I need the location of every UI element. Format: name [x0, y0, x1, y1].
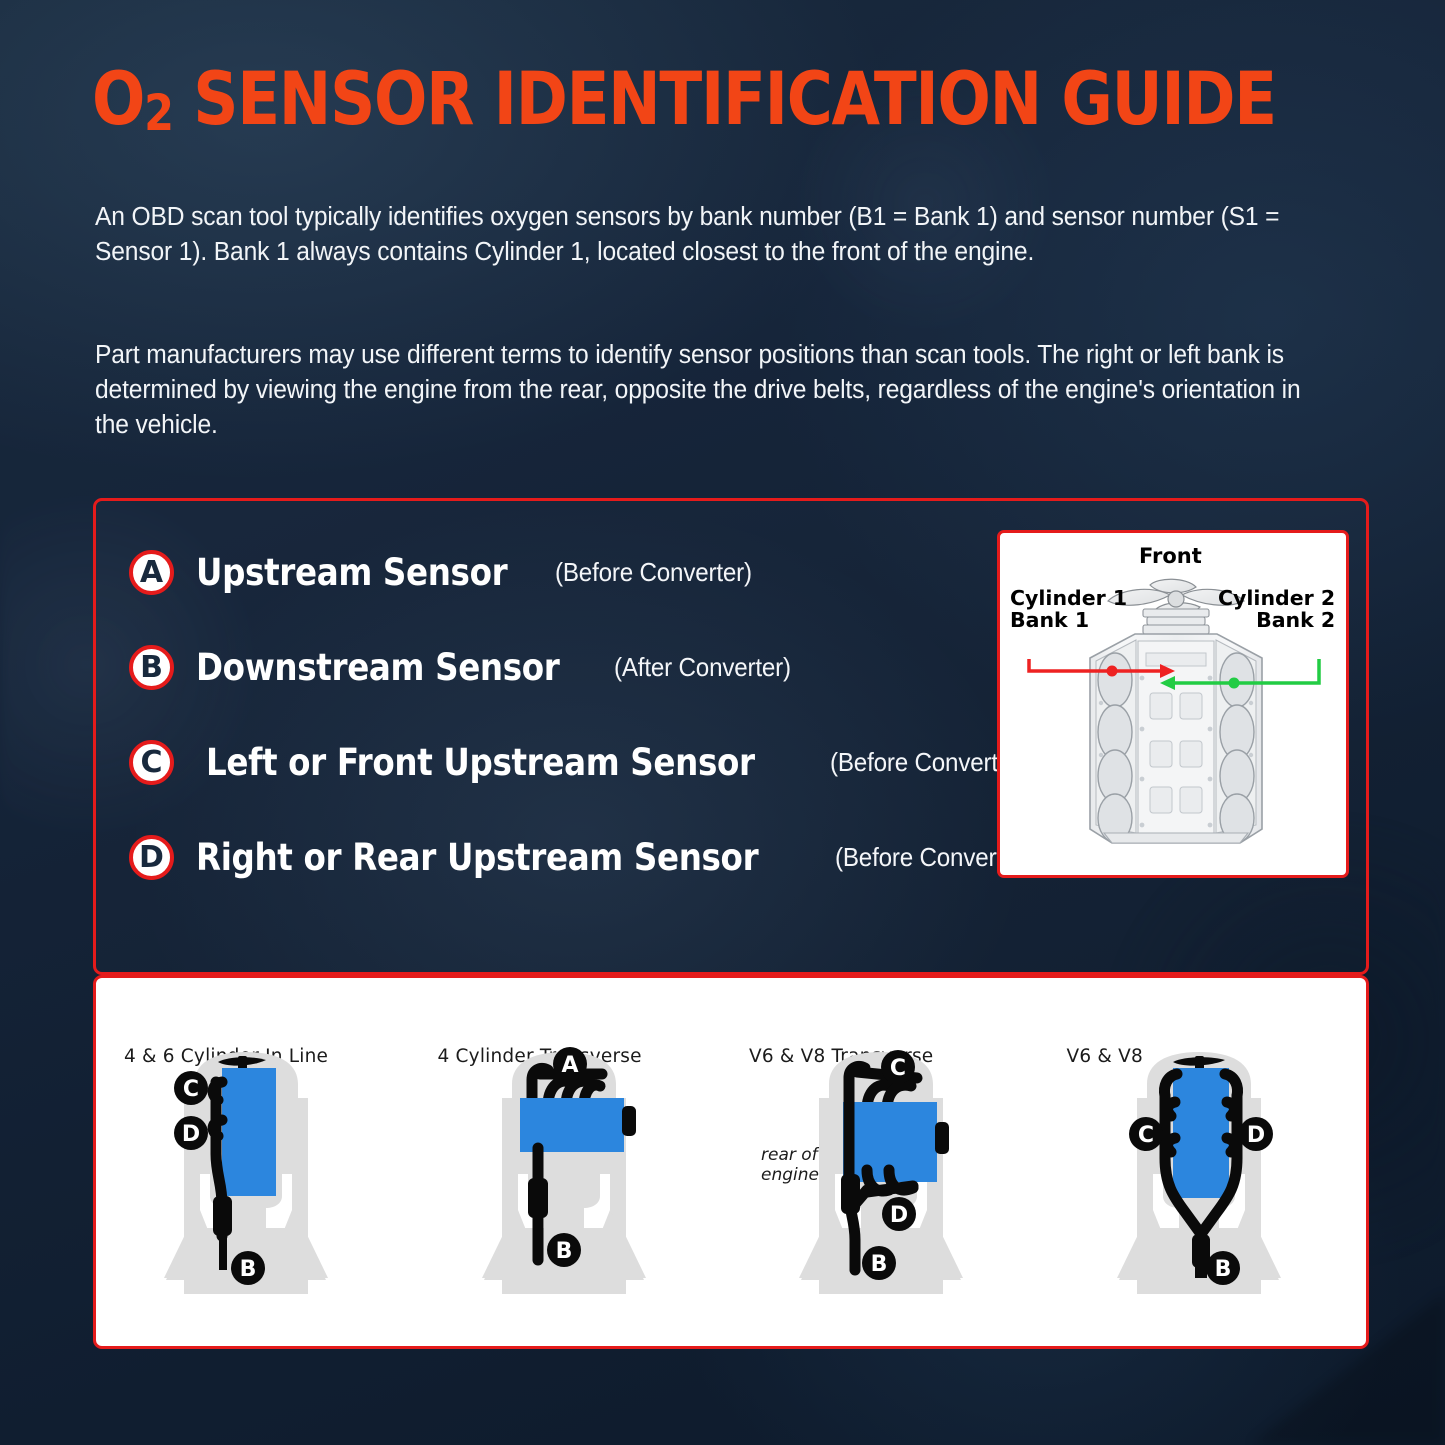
transverse4-layout-illustration: A B — [414, 978, 732, 1349]
bank1-marker-dot — [1107, 666, 1118, 677]
badge-a-icon: A — [129, 550, 174, 595]
legend-note-a: (Before Converter) — [555, 557, 752, 588]
page-title: O2 SENSOR IDENTIFICATION GUIDE — [92, 62, 1276, 140]
badge-d-icon: D — [129, 835, 174, 880]
layout-badge-b: B — [1214, 1257, 1231, 1282]
engine-bank2-label: Cylinder 2 Bank 2 — [1218, 587, 1335, 631]
engine-bank-diagram: Front Cylinder 1 Bank 1 Cylinder 2 Bank … — [997, 530, 1349, 878]
layout-diagram-4cyl-transverse: 4 Cylinder Transverse — [414, 978, 732, 1346]
badge-b-icon: B — [129, 645, 174, 690]
vlongitudinal-layout-illustration: C D B — [1049, 978, 1367, 1349]
title-o2-prefix: O2 — [92, 57, 173, 142]
engine-block — [222, 1068, 276, 1196]
layout-badge-a: A — [561, 1053, 578, 1078]
engine-bank1-text: Bank 1 — [1010, 608, 1089, 632]
engine-block — [1173, 1068, 1229, 1198]
legend-label-c: Left or Front Upstream Sensor — [206, 741, 755, 784]
vtransverse-layout-illustration: C D B — [731, 978, 1049, 1349]
catalytic-converter — [213, 1196, 232, 1236]
engine-bank1-label: Cylinder 1 Bank 1 — [1010, 587, 1127, 631]
cylinder-bore-left-1 — [1098, 653, 1132, 707]
layout-diagram-v-longitudinal: V6 & V8 — [1049, 978, 1367, 1346]
layout-badge-d: D — [182, 1122, 200, 1147]
layout-diagram-v-transverse: V6 & V8 Transverse rear of engine — [731, 978, 1049, 1346]
layout-badge-b: B — [555, 1239, 572, 1264]
legend-item-d: D Right or Rear Upstream Sensor (Before … — [129, 810, 1047, 905]
title-text: SENSOR IDENTIFICATION GUIDE — [193, 57, 1276, 142]
layout-badge-d: D — [1246, 1123, 1264, 1148]
intro-paragraph-1: An OBD scan tool typically identifies ox… — [95, 200, 1316, 270]
catalytic-converter — [528, 1178, 548, 1218]
inline-layout-illustration: C D B — [96, 978, 414, 1349]
engine-bank2-text: Bank 2 — [1256, 608, 1335, 632]
legend-list: A Upstream Sensor (Before Converter) B D… — [129, 525, 1047, 905]
badge-c-icon: C — [129, 740, 174, 785]
layout-badge-b: B — [240, 1257, 257, 1282]
layout-badge-c: C — [1137, 1123, 1153, 1148]
layout-badge-b: B — [871, 1252, 888, 1277]
engine-front-label: Front — [1139, 545, 1202, 568]
layout-diagram-inline: 4 & 6 Cylinder In Line — [96, 978, 414, 1346]
engine-cylinder2-text: Cylinder 2 — [1218, 586, 1335, 610]
engine-block-illustration — [1000, 533, 1349, 878]
engine-layout-list: 4 & 6 Cylinder In Line — [96, 978, 1366, 1346]
infographic-page: O2 SENSOR IDENTIFICATION GUIDE An OBD sc… — [0, 0, 1445, 1445]
legend-item-b: B Downstream Sensor (After Converter) — [129, 620, 1047, 715]
engine-pulley-icon — [1143, 609, 1209, 634]
legend-item-a: A Upstream Sensor (Before Converter) — [129, 525, 1047, 620]
sensor-legend-panel: A Upstream Sensor (Before Converter) B D… — [93, 498, 1369, 975]
catalytic-converter — [841, 1174, 860, 1214]
layout-badge-d: D — [890, 1203, 908, 1228]
engine-block-body — [1090, 634, 1262, 843]
transmission-stub — [622, 1106, 636, 1136]
legend-label-b: Downstream Sensor — [196, 646, 560, 689]
transmission-stub — [935, 1122, 949, 1154]
layout-badge-c: C — [890, 1056, 906, 1081]
legend-label-d: Right or Rear Upstream Sensor — [196, 836, 758, 879]
bank2-marker-dot — [1229, 678, 1240, 689]
legend-note-b: (After Converter) — [614, 652, 791, 683]
intro-paragraph-2: Part manufacturers may use different ter… — [95, 338, 1316, 443]
layout-badge-c: C — [183, 1077, 199, 1102]
legend-label-a: Upstream Sensor — [196, 551, 507, 594]
engine-cylinder1-text: Cylinder 1 — [1010, 586, 1127, 610]
legend-item-c: C Left or Front Upstream Sensor (Before … — [129, 715, 1047, 810]
engine-layout-panel: 4 & 6 Cylinder In Line — [93, 975, 1369, 1349]
